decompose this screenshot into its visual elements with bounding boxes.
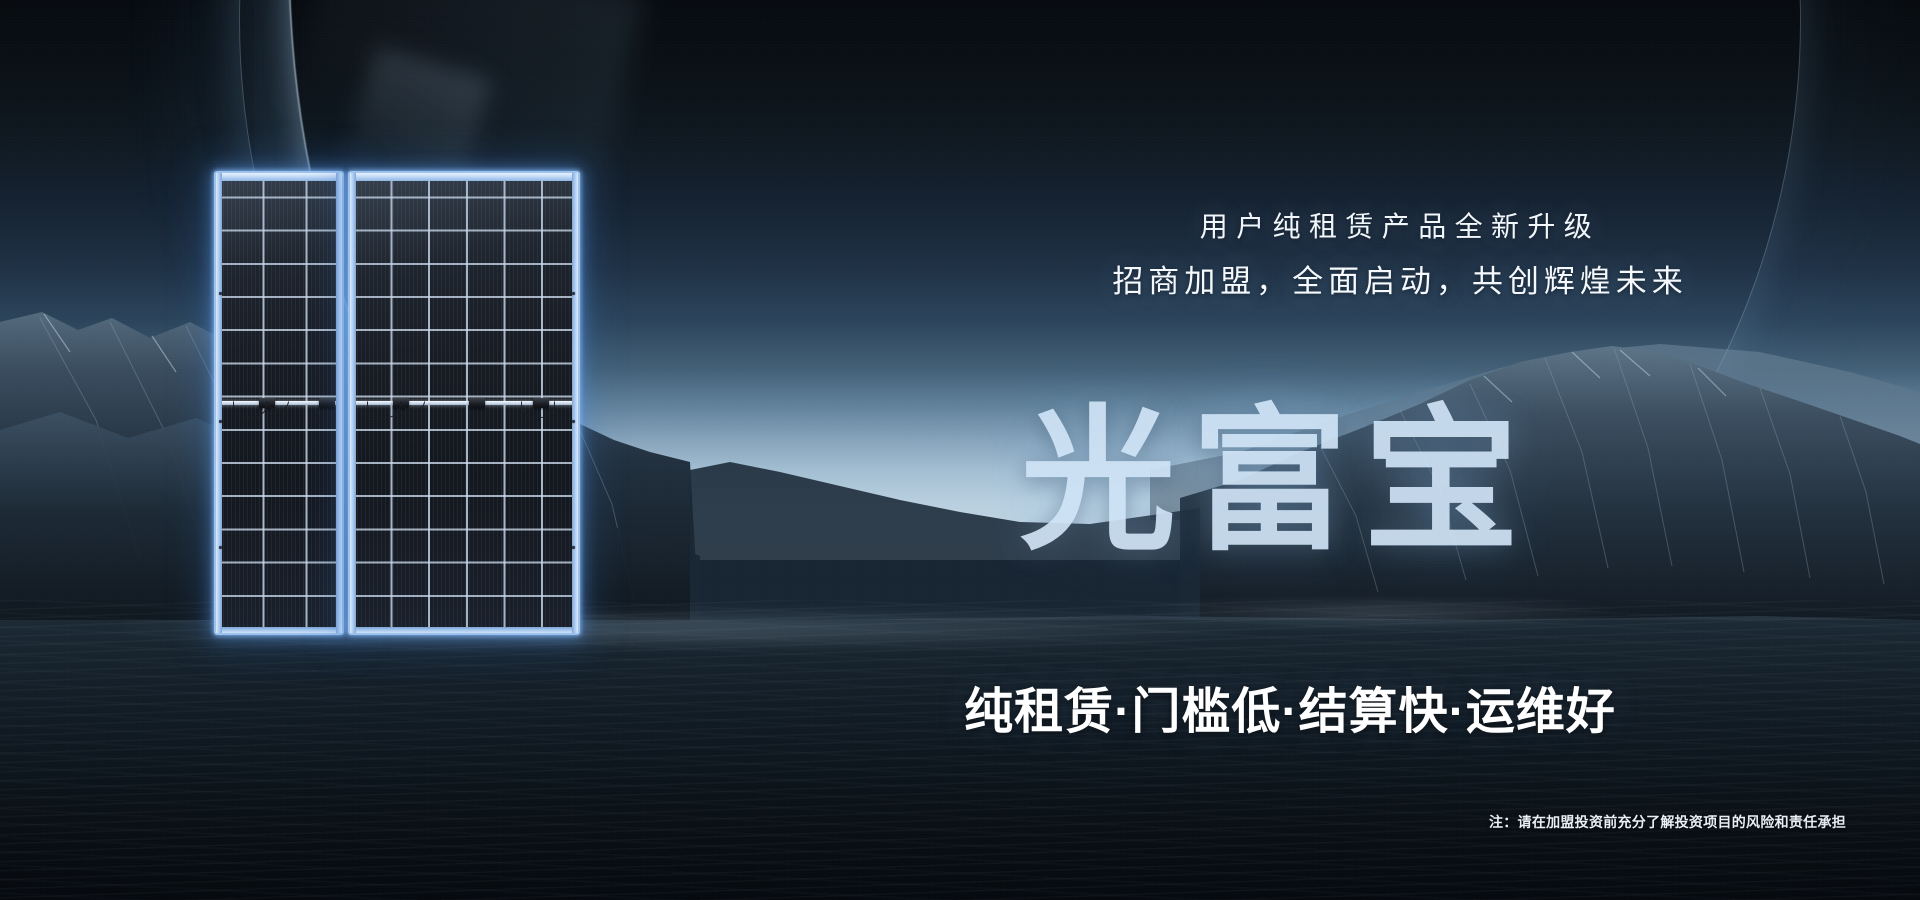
solar-module-left-inner bbox=[219, 176, 339, 630]
solar-module-right-inner bbox=[353, 176, 575, 630]
module-frame-right bbox=[336, 173, 342, 633]
promo-banner: 用户纯租赁产品全新升级 招商加盟，全面启动，共创辉煌未来 光富宝 纯租赁·门槛低… bbox=[0, 0, 1920, 900]
module-frame-left bbox=[216, 173, 222, 633]
solar-panel-array bbox=[214, 171, 580, 635]
headline-block: 用户纯租赁产品全新升级 招商加盟，全面启动，共创辉煌未来 bbox=[960, 200, 1840, 311]
frame-bolt bbox=[572, 546, 575, 549]
module-frame-right bbox=[572, 173, 578, 633]
junction-box bbox=[319, 398, 335, 408]
frame-bolt bbox=[572, 292, 575, 295]
frame-bolt bbox=[219, 546, 222, 549]
water-highlight-secondary bbox=[1080, 600, 1680, 626]
brand-title: 光富宝 bbox=[1020, 404, 1800, 560]
module-frame-bottom bbox=[350, 627, 578, 633]
headline-line-2: 招商加盟，全面启动，共创辉煌未来 bbox=[960, 253, 1840, 310]
solar-module-left bbox=[214, 171, 344, 635]
headline-line-1: 用户纯租赁产品全新升级 bbox=[960, 200, 1840, 253]
solar-panel-product bbox=[214, 171, 580, 635]
solar-module-right bbox=[348, 171, 580, 635]
junction-box bbox=[469, 398, 485, 408]
tagline: 纯租赁·门槛低·结算快·运维好 bbox=[880, 672, 1700, 743]
module-frame-top bbox=[350, 173, 578, 181]
frame-bolt bbox=[219, 292, 222, 295]
disclaimer-note: 注：请在加盟投资前充分了解投资项目的风险和责任承担 bbox=[1489, 812, 1846, 832]
module-frame-left bbox=[350, 173, 356, 633]
module-frame-bottom bbox=[216, 627, 342, 633]
frame-bolt bbox=[219, 420, 222, 423]
module-frame-top bbox=[216, 173, 342, 181]
frame-bolt bbox=[572, 420, 575, 423]
